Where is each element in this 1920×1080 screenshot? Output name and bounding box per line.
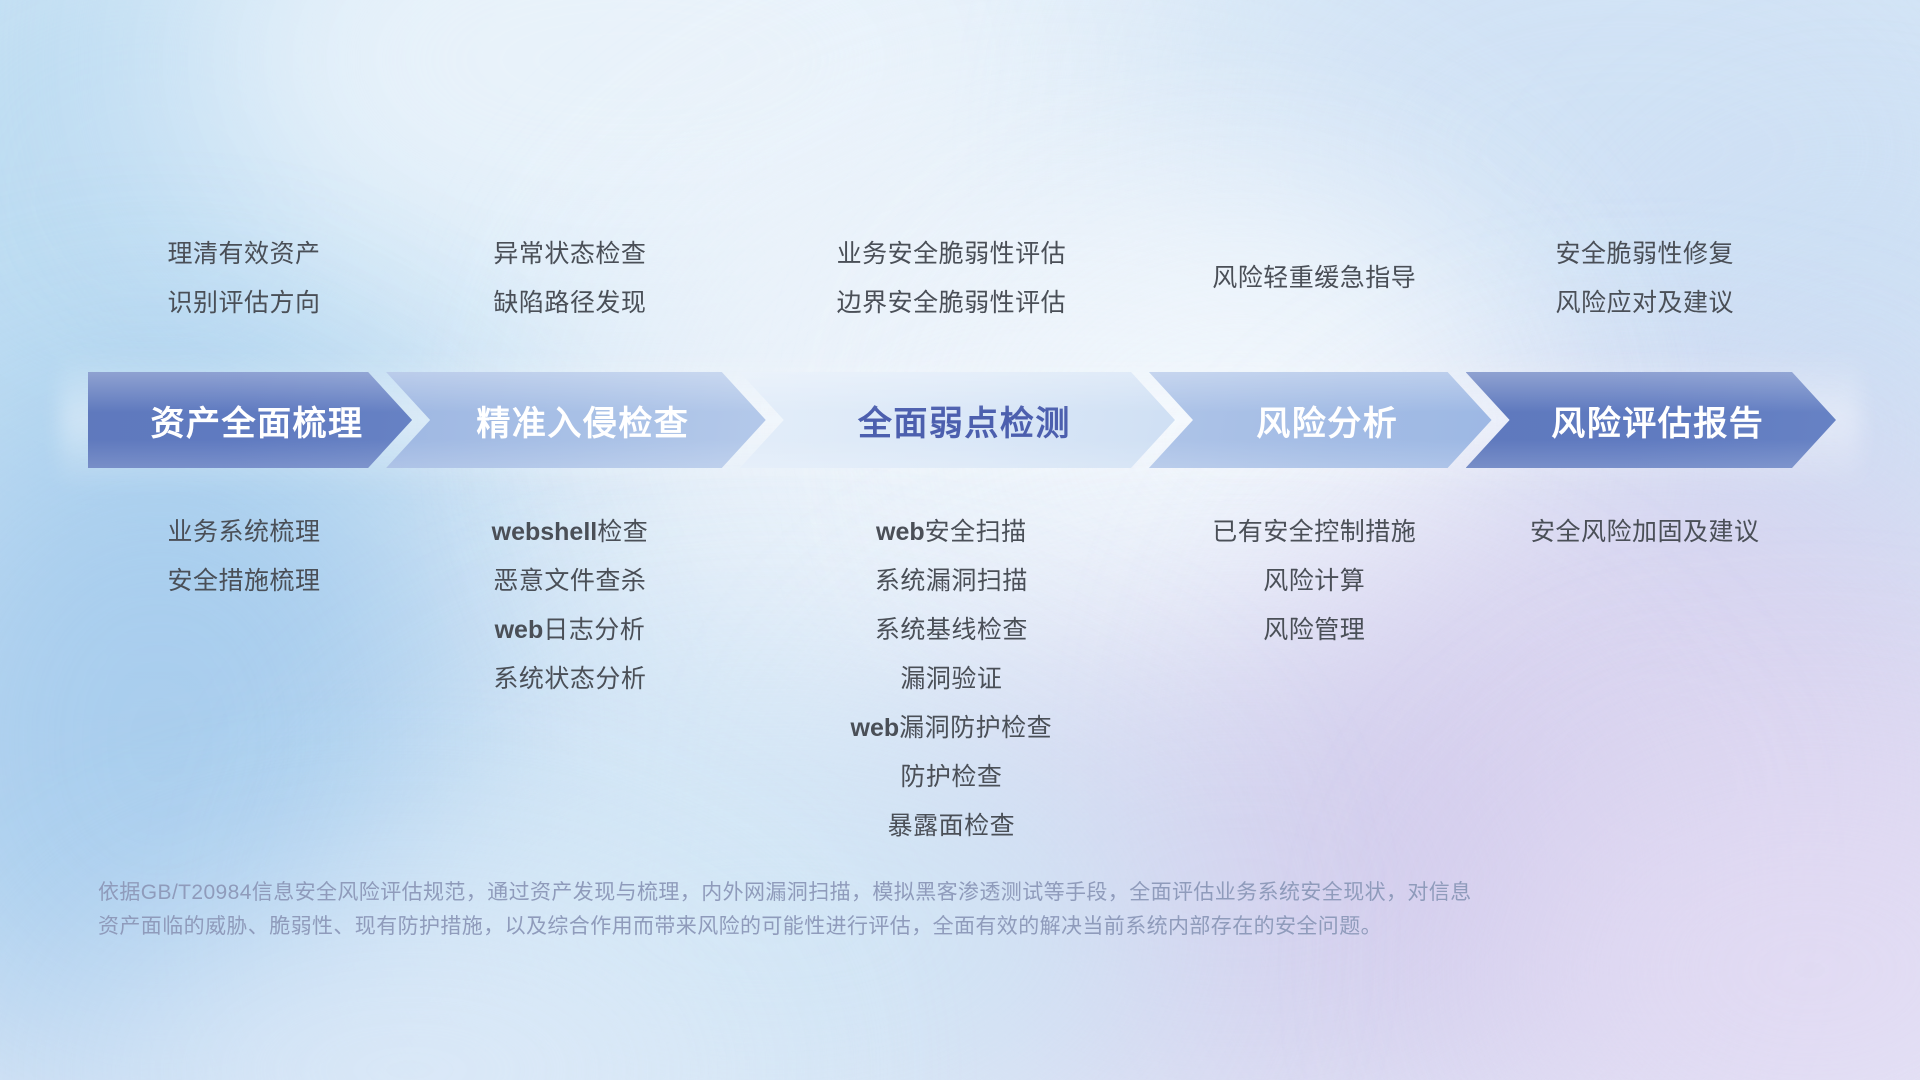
activity-latin-prefix: web [851, 714, 900, 742]
outcome-item: 风险轻重缓急指导 [1212, 254, 1416, 303]
activity-item: 系统漏洞扫描 [851, 557, 1053, 606]
stage-arrow-weakness-detection[interactable]: 全面弱点检测 [740, 372, 1175, 468]
process-diagram: 理清有效资产识别评估方向异常状态检查缺陷路径发现业务安全脆弱性评估边界安全脆弱性… [0, 0, 1920, 1080]
activity-item: 业务系统梳理 [168, 508, 321, 557]
activity-item: 系统状态分析 [492, 655, 649, 704]
activity-item: 安全措施梳理 [168, 557, 321, 606]
activity-text: 日志分析 [543, 616, 645, 644]
outcome-item: 边界安全脆弱性评估 [837, 279, 1067, 328]
stage-arrow-asset-inventory[interactable]: 资产全面梳理 [88, 372, 412, 468]
outcome-item: 异常状态检查 [493, 230, 646, 279]
activity-item: 暴露面检查 [851, 802, 1053, 851]
activity-item: 恶意文件查杀 [492, 557, 649, 606]
stage-title-risk-analysis: 风险分析 [1256, 396, 1398, 445]
outcome-item: 识别评估方向 [168, 279, 321, 328]
outcome-item: 风险应对及建议 [1556, 279, 1735, 328]
outcome-item: 缺陷路径发现 [493, 279, 646, 328]
activity-item: 安全风险加固及建议 [1530, 508, 1760, 557]
activity-text: 漏洞防护检查 [899, 714, 1052, 742]
footer-line-1: 依据GB/T20984信息安全风险评估规范，通过资产发现与梳理，内外网漏洞扫描，… [98, 876, 1738, 910]
activity-latin-prefix: webshell [492, 518, 598, 546]
activity-item: 风险管理 [1212, 606, 1416, 655]
activity-item: 漏洞验证 [851, 655, 1053, 704]
activity-item: web日志分析 [492, 606, 649, 655]
stage-arrow-intrusion-check[interactable]: 精准入侵检查 [386, 372, 766, 468]
stage-title-weakness-detection: 全面弱点检测 [858, 396, 1071, 445]
activity-item: 防护检查 [851, 753, 1053, 802]
activity-text: 检查 [597, 518, 648, 546]
outcome-item: 安全脆弱性修复 [1556, 230, 1735, 279]
outcome-item: 业务安全脆弱性评估 [837, 230, 1067, 279]
activity-item: web安全扫描 [851, 508, 1053, 557]
activity-latin-prefix: web [495, 616, 544, 644]
stage-arrow-risk-analysis[interactable]: 风险分析 [1149, 372, 1492, 468]
outcome-item: 理清有效资产 [168, 230, 321, 279]
footer-description: 依据GB/T20984信息安全风险评估规范，通过资产发现与梳理，内外网漏洞扫描，… [98, 876, 1738, 944]
footer-line-2: 资产面临的威胁、脆弱性、现有防护措施，以及综合作用而带来风险的可能性进行评估，全… [98, 910, 1738, 944]
activity-latin-prefix: web [876, 518, 925, 546]
activity-item: 风险计算 [1212, 557, 1416, 606]
activity-item: web漏洞防护检查 [851, 704, 1053, 753]
stage-arrow-risk-report[interactable]: 风险评估报告 [1466, 372, 1836, 468]
activity-text: 安全扫描 [925, 518, 1027, 546]
stage-title-asset-inventory: 资产全面梳理 [151, 396, 364, 445]
activity-item: 已有安全控制措施 [1212, 508, 1416, 557]
stage-arrow-ribbon: 资产全面梳理精准入侵检查全面弱点检测风险分析风险评估报告 [88, 372, 1836, 468]
stage-title-intrusion-check: 精准入侵检查 [476, 396, 689, 445]
stage-title-risk-report: 风险评估报告 [1551, 396, 1764, 445]
activity-item: webshell检查 [492, 508, 649, 557]
activity-item: 系统基线检查 [851, 606, 1053, 655]
